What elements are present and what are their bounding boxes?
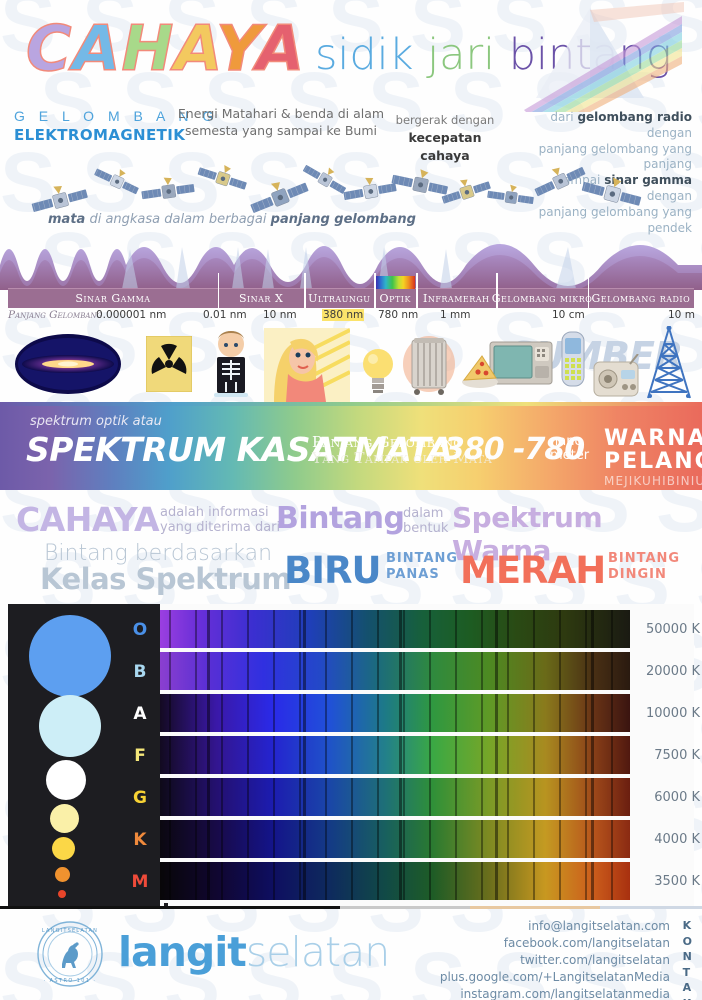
kontak-letter: A [683, 980, 692, 996]
em-band-divider [304, 273, 306, 308]
bintang-dingin-line-1: BINTANG [608, 551, 680, 567]
bintang-panas-line-2: PANAS [386, 567, 458, 583]
wavelength-tick: 0.000001 nm [96, 309, 166, 321]
spectral-class-letter-G: G [130, 788, 150, 808]
contact-line[interactable]: facebook.com/langitselatan [440, 935, 670, 952]
em-band-divider [416, 273, 418, 308]
unit-nano: nano [550, 435, 589, 449]
em-band-gelombang-radio: Gelombang radio [588, 289, 694, 308]
em-band-divider [496, 273, 498, 308]
kontak-letter: O [683, 934, 692, 950]
em-band-inframerah: Inframerah [416, 289, 496, 308]
adalah-line-2: yang diterima dari [160, 520, 280, 535]
contact-line[interactable]: instagram.com/langitselatanmedia [440, 986, 670, 1000]
contact-line[interactable]: twitter.com/langitselatan [440, 952, 670, 969]
bintang-panas-line-1: BINTANG [386, 551, 458, 567]
contact-line[interactable]: info@langitselatan.com [440, 918, 670, 935]
header: CAHAYA sidik jari bintang [0, 0, 702, 95]
radio-tower-icon [640, 326, 698, 400]
spectral-class-letter-O: O [130, 620, 150, 640]
em-spectrum-bar: Sinar GammaSinar XUltraunguOptikInframer… [8, 288, 694, 308]
dari-text: dari [550, 110, 577, 124]
mobile-phone-icon [556, 328, 590, 390]
panjang-gelombang-text: panjang gelombang [271, 212, 416, 227]
wavelength-tick: 10 m [668, 309, 695, 321]
title-letter-4: A [174, 12, 216, 85]
kontak-letter: K [683, 918, 692, 934]
spectrum-strip-O [160, 610, 630, 648]
wavelength-axis-label: Panjang Gelombang [8, 309, 102, 321]
star-size-circle [58, 890, 66, 898]
cahaya-statement: CAHAYA [16, 500, 159, 539]
spektrum-optik-label: spektrum optik atau [30, 414, 162, 429]
spectral-class-letter-M: M [130, 872, 150, 892]
bintang-panas-label: BINTANG PANAS [386, 551, 458, 584]
kontak-letter: T [683, 965, 692, 981]
satellite-icon [138, 170, 198, 213]
spectrum-strip-A [160, 694, 630, 732]
kecepatan-cahaya-text: kecepatan cahaya [408, 130, 481, 163]
infographic-page: SSSSSSSSSSSSSSSSSSSSSSSSSSSSSSSSSSSSSSSS… [0, 0, 702, 1000]
xray-body-icon [206, 330, 256, 400]
mata-text: mata [48, 212, 85, 227]
contact-line[interactable]: plus.google.com/+LangitselatanMedia [440, 969, 670, 986]
visible-spectrum-band: spektrum optik atau SPEKTRUM KASATMATA P… [0, 406, 702, 490]
spectral-class-letter-B: B [130, 662, 150, 682]
svg-text:LANGITSELATAN: LANGITSELATAN [42, 928, 98, 934]
wavelength-tick: 0.01 nm [203, 309, 247, 321]
star-size-circle [46, 760, 86, 800]
caption-mid-text: di angkasa dalam berbagai [85, 212, 270, 227]
intro-column-speed: bergerak dengan kecepatan cahaya [386, 112, 504, 165]
satellite-icon [576, 167, 647, 222]
warna-line: WARNA [604, 428, 702, 451]
star-size-circle [50, 804, 79, 833]
star-size-circle [55, 867, 70, 882]
star-size-circle [52, 837, 75, 860]
unit-meter: meter [550, 449, 589, 463]
satellite-icon [484, 179, 537, 216]
mnemonic-text: MEJIKUHIBINIU [604, 474, 702, 488]
star-size-circle [39, 695, 101, 757]
optic-rainbow-chip [376, 276, 415, 289]
footer-rule [0, 906, 702, 909]
kontak-letter: K [683, 996, 692, 1000]
em-band-ultraungu: Ultraungu [304, 289, 374, 308]
temperature-label-O: 50000 K [636, 622, 700, 637]
adalah-informasi-text: adalah informasi yang diterima dari [160, 505, 280, 536]
kontak-letter: N [683, 949, 692, 965]
merah-label: MERAH [460, 549, 605, 592]
wavelength-tick: 1 mm [440, 309, 470, 321]
source-icons-row [0, 326, 702, 406]
spectral-class-letter-F: F [130, 746, 150, 766]
contact-list: info@langitselatan.comfacebook.com/langi… [440, 918, 670, 1000]
wavelength-tick: 10 cm [552, 309, 585, 321]
spectrum-strip-G [160, 778, 630, 816]
spectral-class-chart: O50000 KB20000 KA10000 KF7500 KG6000 KK4… [8, 604, 694, 906]
temperature-label-F: 7500 K [636, 748, 700, 763]
sunbathing-woman-icon [264, 328, 350, 402]
temperature-label-M: 3500 K [636, 874, 700, 889]
em-band-sinar-x: Sinar X [218, 289, 304, 308]
temperature-label-G: 6000 K [636, 790, 700, 805]
spectral-class-letter-A: A [130, 704, 150, 724]
em-band-gelombang-mikro: Gelombang mikro [496, 289, 587, 308]
brand-selatan: selatan [246, 928, 389, 976]
satellite-icon [192, 155, 252, 203]
microwave-pizza-icon [462, 340, 554, 392]
watermark-letter: S [696, 860, 702, 944]
satellite-icon [88, 157, 145, 206]
visible-range-unit: nano meter [550, 435, 589, 462]
dalam-line: dalam [403, 506, 448, 521]
temperature-label-K: 4000 K [636, 832, 700, 847]
temperature-label-A: 10000 K [636, 706, 700, 721]
galaxy-gamma-map-icon [14, 332, 122, 396]
prism-rainbow-icon [494, 2, 684, 112]
radio-receiver-icon [592, 354, 640, 398]
dalam-bentuk-text: dalam bentuk [403, 506, 448, 537]
wavelength-row: Panjang Gelombang 0.000001 nm0.01 nm10 n… [0, 308, 702, 324]
heater-radiator-icon [402, 334, 456, 398]
spectrum-strip-F [160, 736, 630, 774]
wavelength-tick: 780 nm [378, 309, 418, 321]
page-title: CAHAYA [26, 18, 305, 80]
langitselatan-seal-logo: LANGITSELATAN · ASTRO 101 · [36, 920, 104, 988]
brand-langit: langit [118, 928, 246, 976]
em-band-divider [218, 273, 220, 308]
radiation-hazard-icon [146, 336, 192, 392]
bentuk-line: bentuk [403, 521, 448, 536]
visible-spectrum-top-rule [0, 402, 702, 406]
lightbulb-icon [360, 344, 396, 394]
bintang-statement: Bintang [276, 501, 404, 536]
title-letter-6: A [256, 12, 305, 85]
title-letter-5: Y [216, 12, 256, 85]
kelas-spektrum-title: Kelas Spektrum [40, 562, 291, 596]
subtitle-word-1: sidik [315, 30, 427, 80]
kontak-vertical-label: KONTAK [683, 918, 692, 1000]
gelombang-radio-text: gelombang radio [577, 110, 692, 124]
temperature-label-B: 20000 K [636, 664, 700, 679]
wavelength-tick: 380 nm [322, 309, 364, 321]
footer-dash [8, 903, 168, 906]
satellite-caption: mata di angkasa dalam berbagai panjang g… [48, 212, 416, 227]
star-size-circle [29, 615, 111, 697]
pelangi-line: PELANGI [604, 451, 702, 474]
spectrum-strip-B [160, 652, 630, 690]
dengan-text-1: dengan [647, 126, 692, 140]
bintang-dingin-label: BINTANG DINGIN [608, 551, 680, 584]
spectrum-strip-K [160, 820, 630, 858]
title-letter-3: H [122, 12, 175, 85]
spectral-class-letter-K: K [130, 830, 150, 850]
svg-text:· ASTRO 101 ·: · ASTRO 101 · [44, 978, 97, 984]
brand-wordmark: langitselatan [118, 928, 389, 976]
intro-column-energy: Energi Matahari & benda di alam semesta … [176, 106, 386, 140]
em-band-optik: Optik [374, 289, 416, 308]
bergerak-dengan-text: bergerak dengan [386, 112, 504, 129]
biru-label: BIRU [284, 549, 381, 592]
em-band-sinar-gamma: Sinar Gamma [8, 289, 218, 308]
em-band-divider [588, 273, 590, 308]
wavelength-tick: 10 nm [263, 309, 297, 321]
bintang-dingin-line-2: DINGIN [608, 567, 680, 583]
warna-pelangi-title: WARNA PELANGI [604, 428, 702, 474]
spectrum-strip-M [160, 862, 630, 900]
title-letter-1: C [26, 12, 73, 85]
adalah-line-1: adalah informasi [160, 505, 280, 520]
title-letter-2: A [73, 12, 122, 85]
